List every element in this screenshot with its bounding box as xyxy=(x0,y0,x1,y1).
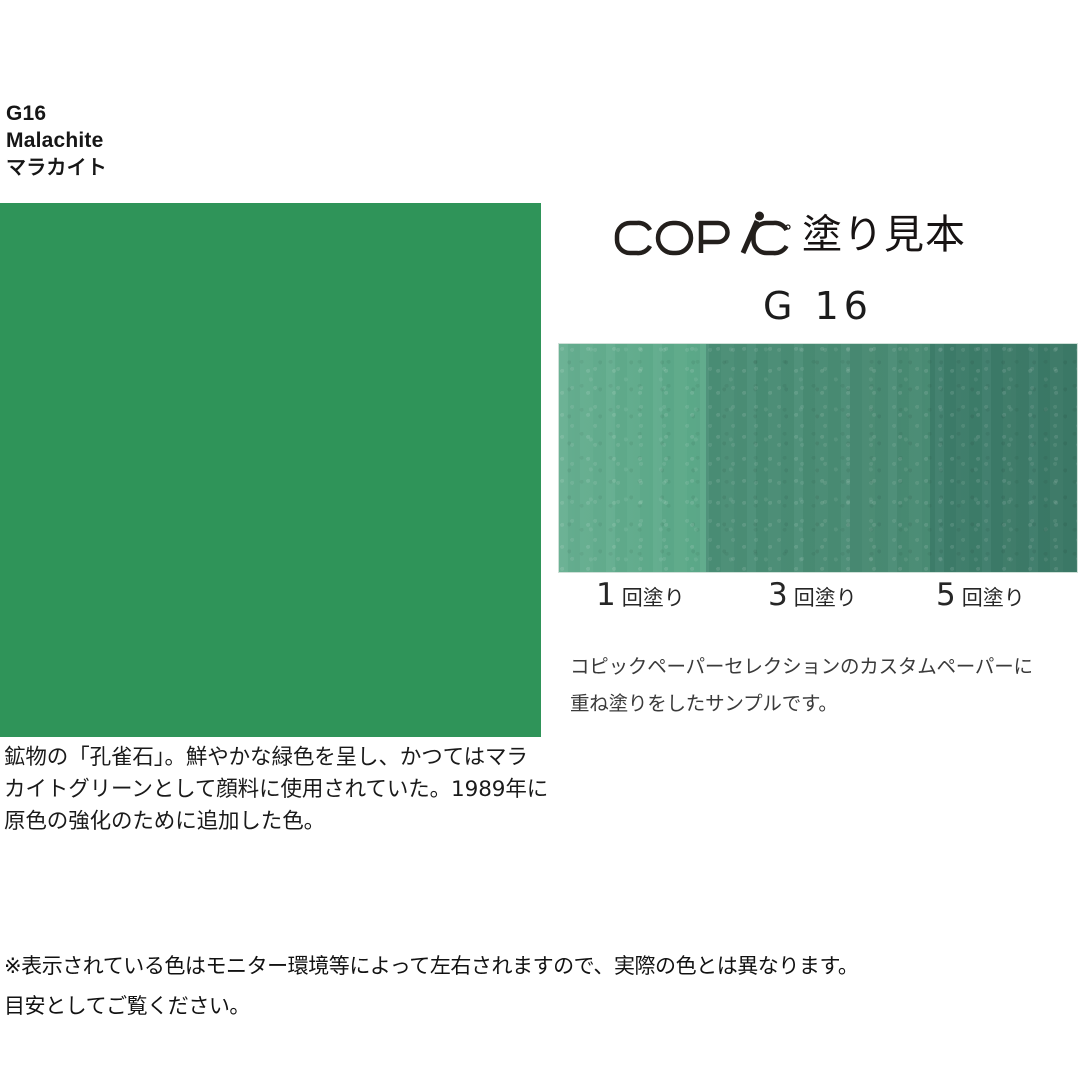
sample-caption-line-2: 重ね塗りをしたサンプルです。 xyxy=(570,685,1080,722)
color-accuracy-disclaimer: ※表示されている色はモニター環境等によって左右されますので、実際の色とは異なりま… xyxy=(4,946,1076,1026)
marker-sample-strip xyxy=(558,343,1078,573)
sample-caption: コピックペーパーセレクションのカスタムペーパーに 重ね塗りをしたサンプルです。 xyxy=(570,648,1080,722)
coat-count-1: 1 xyxy=(596,578,616,612)
coat-band-5 xyxy=(930,344,1077,572)
sample-color-code: G 16 xyxy=(556,284,1080,328)
copic-logo xyxy=(612,210,792,260)
coat-label-1: 1 回塗り xyxy=(596,578,685,612)
coat-band-1 xyxy=(559,344,706,572)
coat-band-3 xyxy=(706,344,930,572)
color-header: G16 Malachite マラカイト xyxy=(6,100,526,181)
disclaimer-line-2: 目安としてご覧ください。 xyxy=(4,986,1076,1026)
color-code: G16 xyxy=(6,100,526,127)
disclaimer-line-1: ※表示されている色はモニター環境等によって左右されますので、実際の色とは異なりま… xyxy=(4,946,1076,986)
coat-unit-5: 回塗り xyxy=(962,585,1025,611)
color-name-japanese: マラカイト xyxy=(6,154,526,181)
copic-sample-panel: 塗り見本 G 16 1 回塗り 3 回塗り 5 回塗り コピックペーパーセレクシ… xyxy=(556,200,1080,720)
coat-label-5: 5 回塗り xyxy=(936,578,1025,612)
brand-row: 塗り見本 xyxy=(612,208,966,262)
coat-unit-3: 回塗り xyxy=(794,585,857,611)
coat-label-3: 3 回塗り xyxy=(768,578,857,612)
color-name-english: Malachite xyxy=(6,127,526,154)
sample-caption-line-1: コピックペーパーセレクションのカスタムペーパーに xyxy=(570,648,1080,685)
color-description: 鉱物の「孔雀石」。鮮やかな緑色を呈し、かつてはマラカイトグリーンとして顔料に使用… xyxy=(4,742,549,838)
coat-label-row: 1 回塗り 3 回塗り 5 回塗り xyxy=(558,578,1078,618)
color-swatch xyxy=(0,203,541,737)
coat-unit-1: 回塗り xyxy=(622,585,685,611)
coat-count-3: 3 xyxy=(768,578,788,612)
coat-count-5: 5 xyxy=(936,578,956,612)
brand-suffix-label: 塗り見本 xyxy=(802,215,966,255)
